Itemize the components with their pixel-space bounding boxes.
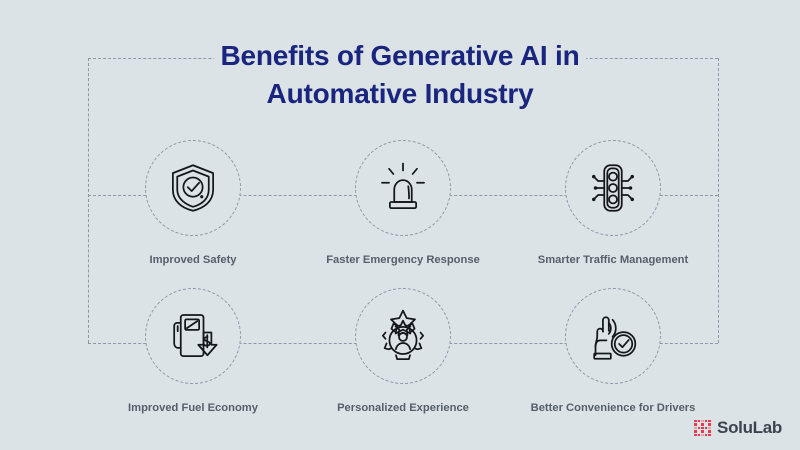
emergency-siren-icon (375, 160, 431, 216)
gear-person-star-icon (375, 308, 431, 364)
icon-circle (145, 288, 241, 384)
benefit-item-smarter-traffic-management: Smarter Traffic Management (508, 130, 718, 278)
benefit-item-improved-safety: Improved Safety (88, 130, 298, 278)
page-title-line-1: Benefits of Generative AI in (214, 38, 585, 75)
benefit-item-faster-emergency-response: Faster Emergency Response (298, 130, 508, 278)
icon-circle (355, 140, 451, 236)
benefit-item-improved-fuel-economy: Improved Fuel Economy (88, 278, 298, 426)
hand-ok-check-icon (585, 308, 641, 364)
benefit-item-personalized-experience: Personalized Experience (298, 278, 508, 426)
benefit-label: Better Convenience for Drivers (528, 402, 699, 414)
infographic-canvas: Benefits of Generative AI in Automative … (0, 0, 800, 450)
benefit-label: Improved Fuel Economy (125, 402, 261, 414)
brand-name: SoluLab (717, 418, 782, 438)
page-title: Benefits of Generative AI in Automative … (0, 38, 800, 113)
icon-circle (355, 288, 451, 384)
benefit-item-better-convenience-for-drivers: Better Convenience for Drivers (508, 278, 718, 426)
benefit-label: Personalized Experience (334, 402, 472, 414)
icon-circle (565, 140, 661, 236)
icon-circle (565, 288, 661, 384)
fuel-pump-dollar-arrow-icon (165, 308, 221, 364)
shield-check-icon (165, 160, 221, 216)
benefit-label: Smarter Traffic Management (535, 254, 691, 266)
icon-circle (145, 140, 241, 236)
page-title-line-2: Automative Industry (261, 76, 540, 113)
benefits-grid: Improved Safety Fast (88, 130, 718, 425)
traffic-light-circuit-icon (585, 160, 641, 216)
benefit-label: Faster Emergency Response (323, 254, 483, 266)
solulab-pixel-logo-icon (694, 420, 711, 437)
brand-logo: SoluLab (694, 418, 782, 438)
benefit-label: Improved Safety (146, 254, 239, 266)
